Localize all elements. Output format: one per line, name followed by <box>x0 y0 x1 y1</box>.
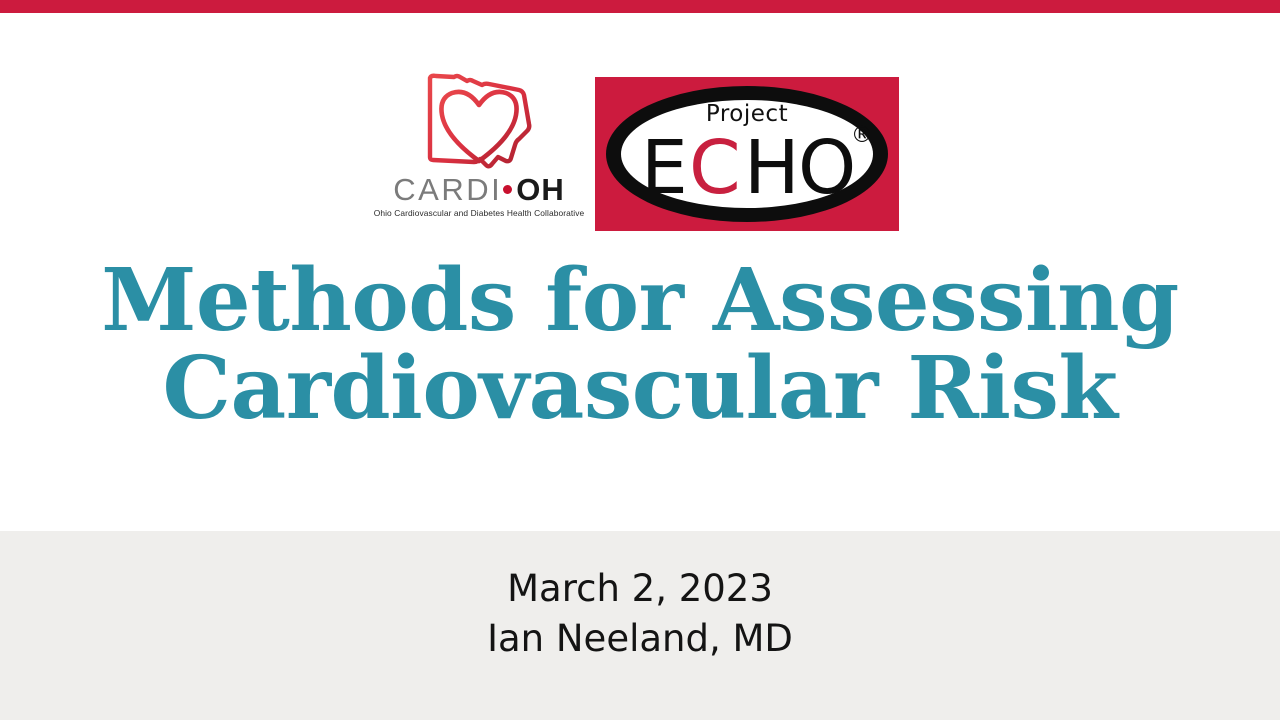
slide-footer-band: March 2, 2023 Ian Neeland, MD <box>0 531 1280 720</box>
wordmark-oh: OH <box>516 174 565 205</box>
cardi-oh-wordmark: CARDI OH <box>393 174 564 204</box>
page-title-line-1: Methods for Assessing <box>20 257 1260 345</box>
wordmark-dot-icon <box>503 185 512 194</box>
top-accent-bar <box>0 0 1280 13</box>
project-echo-mark-icon: Project E C H O ® <box>595 77 899 231</box>
project-echo-logo: Project E C H O ® <box>595 77 899 231</box>
logo-row: CARDI OH Ohio Cardiovascular and Diabete… <box>381 63 899 219</box>
svg-text:Project: Project <box>706 101 788 127</box>
slide-title-block: Methods for Assessing Cardiovascular Ris… <box>0 257 1280 432</box>
presentation-date: March 2, 2023 <box>507 564 773 614</box>
presentation-title-slide: CARDI OH Ohio Cardiovascular and Diabete… <box>0 0 1280 720</box>
svg-text:O: O <box>798 125 855 211</box>
svg-text:C: C <box>689 125 740 211</box>
presenter-name: Ian Neeland, MD <box>487 614 793 664</box>
cardi-oh-tagline: Ohio Cardiovascular and Diabetes Health … <box>374 208 585 218</box>
slide-main-area: CARDI OH Ohio Cardiovascular and Diabete… <box>0 13 1280 531</box>
wordmark-cardi: CARDI <box>393 174 502 205</box>
ohio-outline-heart-icon <box>416 65 542 173</box>
svg-text:E: E <box>641 125 687 211</box>
svg-text:®: ® <box>851 123 873 148</box>
svg-text:H: H <box>744 125 799 211</box>
page-title-line-2: Cardiovascular Risk <box>20 345 1260 433</box>
cardi-oh-logo: CARDI OH Ohio Cardiovascular and Diabete… <box>381 63 577 219</box>
